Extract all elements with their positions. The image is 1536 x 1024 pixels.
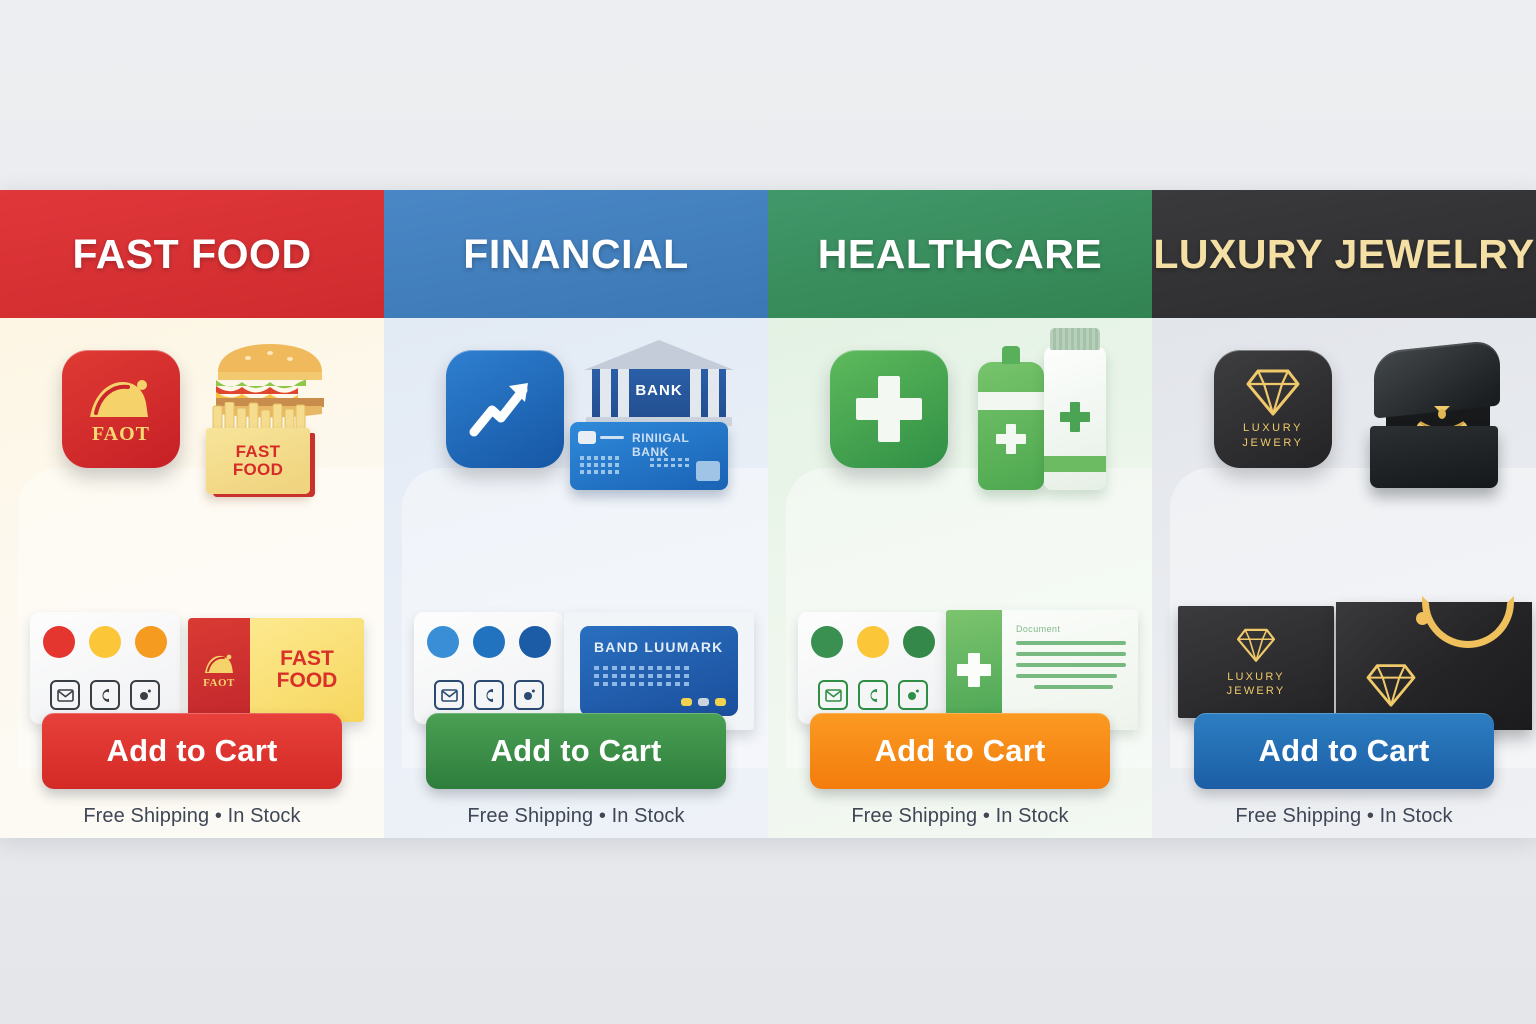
color-swatch-card (414, 612, 564, 724)
envelope-icon[interactable] (818, 680, 848, 710)
product-card-row: FAST FOOD FAOT (0, 190, 1536, 838)
document-line (1016, 641, 1126, 645)
camera-icon[interactable] (130, 680, 160, 710)
page-root: FAST FOOD FAOT (0, 0, 1536, 1024)
card-header-luxury-jewelry: LUXURY JEWELRY (1152, 190, 1536, 318)
card-title: FINANCIAL (463, 231, 688, 278)
app-icon-tile[interactable]: LUXURYJEWERY (1214, 350, 1332, 468)
camera-icon[interactable] (898, 680, 928, 710)
bank-column (600, 369, 611, 417)
card-hologram (696, 461, 720, 481)
product-showcase: BANK RINIIGAL BANK (384, 336, 768, 516)
brand-credit-card: BAND LUUMARK (580, 626, 738, 716)
document-heading: Document (1016, 624, 1126, 634)
luxury-business-card: LUXURYJEWERY (1178, 606, 1334, 718)
color-swatch (89, 626, 121, 658)
product-art-burger-fries: FAST FOOD (178, 340, 368, 500)
bottle-cap (1050, 328, 1100, 350)
bag-handle (1422, 596, 1514, 648)
shipping-status-text: Free Shipping • In Stock (0, 805, 384, 828)
phone-icon[interactable] (474, 680, 504, 710)
card-header-healthcare: HEALTHCARE (768, 190, 1152, 318)
bank-label: BANK (592, 382, 726, 399)
card-body-luxury-jewelry: LUXURYJEWERY (1152, 318, 1536, 838)
cta-area: Add to Cart Free Shipping • In Stock (1152, 713, 1536, 828)
card-title: FAST FOOD (72, 231, 311, 278)
add-to-cart-button[interactable]: Add to Cart (810, 713, 1110, 789)
phone-icon[interactable] (858, 680, 888, 710)
app-icon-tile[interactable] (830, 350, 948, 468)
document-line (1016, 674, 1117, 678)
card-chip (578, 431, 596, 444)
document-line (1016, 652, 1126, 656)
luxury-card-text: LUXURYJEWERY (1227, 670, 1286, 698)
card-body-healthcare: Document Add to Cart Free Shipping • In … (768, 318, 1152, 838)
cta-area: Add to Cart Free Shipping • In Stock (768, 713, 1152, 828)
product-card-healthcare[interactable]: HEALTHCARE (768, 190, 1152, 838)
product-card-financial[interactable]: FINANCIAL BANK (384, 190, 768, 838)
diamond-icon (1235, 627, 1277, 663)
bank-body: BANK (592, 369, 726, 417)
bank-column (690, 369, 701, 417)
envelope-icon[interactable] (434, 680, 464, 710)
color-swatch (427, 626, 459, 658)
bottle-neck (1002, 346, 1020, 364)
swoosh-mark-icon (202, 652, 236, 674)
color-swatch (473, 626, 505, 658)
shipping-status-text: Free Shipping • In Stock (384, 805, 768, 828)
color-swatch (857, 626, 889, 658)
shipping-status-text: Free Shipping • In Stock (768, 805, 1152, 828)
color-swatch (135, 626, 167, 658)
bank-column (708, 369, 719, 417)
card-body-fast-food: FAOT (0, 318, 384, 838)
growth-arrow-icon (468, 378, 542, 440)
color-swatch (811, 626, 843, 658)
brand-card-title-line1: FAST (280, 648, 334, 670)
fries-label-line2: FOOD (233, 461, 283, 479)
ring-box (1360, 346, 1510, 496)
phone-icon[interactable] (90, 680, 120, 710)
app-icon-tile[interactable] (446, 350, 564, 468)
swatch-row (42, 626, 168, 658)
shipping-status-text: Free Shipping • In Stock (1152, 805, 1536, 828)
contact-icon-row (810, 680, 936, 710)
document-text-panel: Document (1002, 610, 1138, 730)
prescription-document-card: Document (946, 610, 1138, 730)
medical-cross-icon (996, 424, 1026, 454)
color-swatch (43, 626, 75, 658)
card-header-financial: FINANCIAL (384, 190, 768, 318)
ring-box-base (1370, 426, 1498, 488)
credit-card-dots (594, 666, 689, 686)
fries-box-label: FAST FOOD (206, 428, 310, 494)
brand-card-title-line2: FOOD (277, 670, 338, 692)
product-showcase: FAOT (0, 336, 384, 516)
app-icon-tile[interactable]: FAOT (62, 350, 180, 468)
card-number-dots (580, 456, 619, 474)
diamond-icon (1364, 662, 1418, 708)
product-showcase: LUXURYJEWERY (1152, 336, 1536, 516)
swatch-row (810, 626, 936, 658)
swoosh-mark-icon (84, 373, 158, 419)
product-card-luxury-jewelry[interactable]: LUXURY JEWELRY LUXURYJEWERY (1152, 190, 1536, 838)
product-card-fast-food[interactable]: FAST FOOD FAOT (0, 190, 384, 838)
color-swatch-card (798, 612, 948, 724)
app-icon-label: LUXURYJEWERY (1242, 421, 1303, 451)
contact-icon-row (426, 680, 552, 710)
medical-cross-icon (957, 653, 991, 687)
bank-roof (584, 340, 734, 370)
product-art-ring-box (1330, 340, 1520, 500)
add-to-cart-button[interactable]: Add to Cart (426, 713, 726, 789)
bank-building-icon: BANK (584, 340, 734, 432)
document-line (1016, 663, 1126, 667)
contact-icon-row (42, 680, 168, 710)
medicine-bottle-white (1044, 346, 1106, 490)
color-swatch-card (30, 612, 180, 724)
color-swatch (903, 626, 935, 658)
product-art-bank: BANK RINIIGAL BANK (562, 340, 752, 500)
diamond-icon (1244, 367, 1302, 417)
card-title: HEALTHCARE (818, 231, 1102, 278)
camera-icon[interactable] (514, 680, 544, 710)
bank-payment-card: RINIIGAL BANK (570, 422, 728, 490)
card-number-dots (650, 458, 689, 467)
fries-box: FAST FOOD (206, 402, 318, 494)
bottle-band (978, 392, 1044, 410)
brand-business-card: FAOT FAST FOOD (188, 618, 364, 722)
medical-cross-icon (1060, 402, 1090, 432)
cta-area: Add to Cart Free Shipping • In Stock (0, 713, 384, 828)
credit-card-indicators (681, 698, 726, 706)
medical-cross-icon (856, 376, 922, 442)
add-to-cart-button[interactable]: Add to Cart (1194, 713, 1494, 789)
envelope-icon[interactable] (50, 680, 80, 710)
brand-card-title-panel: FAST FOOD (250, 618, 364, 722)
card-body-financial: BANK RINIIGAL BANK (384, 318, 768, 838)
card-stripe (600, 436, 624, 439)
cta-area: Add to Cart Free Shipping • In Stock (384, 713, 768, 828)
add-to-cart-button[interactable]: Add to Cart (42, 713, 342, 789)
swatch-row (426, 626, 552, 658)
brand-card-logo-panel: FAOT (188, 618, 250, 722)
color-swatch (519, 626, 551, 658)
luxury-shopping-bag (1336, 602, 1532, 730)
product-showcase (768, 336, 1152, 516)
product-art-medicine (946, 340, 1136, 500)
document-accent-panel (946, 610, 1002, 730)
card-header-fast-food: FAST FOOD (0, 190, 384, 318)
document-line (1034, 685, 1113, 689)
bottle-band (1044, 456, 1106, 472)
card-title: LUXURY JEWELRY (1153, 231, 1534, 278)
brand-card-logo-text: FAOT (203, 677, 235, 689)
credit-card-brand-text: BAND LUUMARK (594, 639, 724, 655)
app-icon-label: FAOT (92, 423, 150, 446)
fries-label-line1: FAST (236, 443, 281, 461)
bank-column (618, 369, 629, 417)
medicine-bottle-green (978, 362, 1044, 490)
bank-card-name: RINIIGAL BANK (632, 431, 728, 459)
